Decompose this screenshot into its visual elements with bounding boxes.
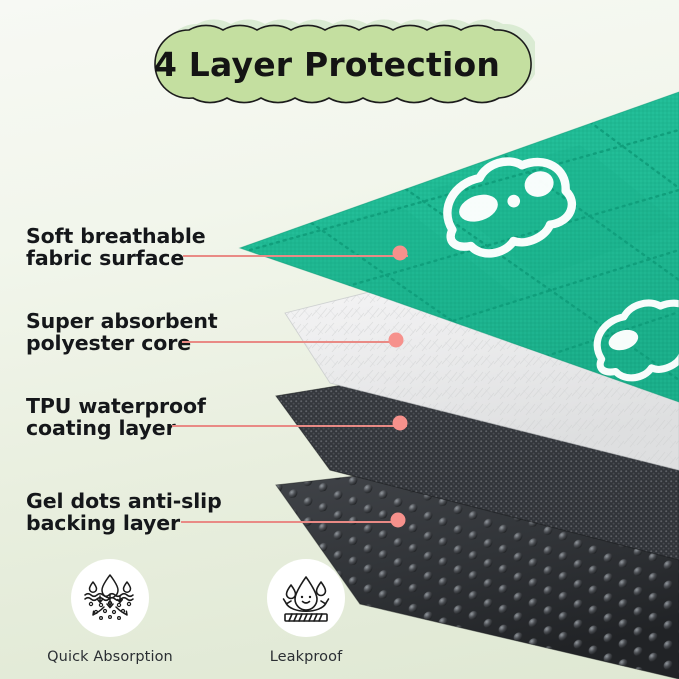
leader-line-fabric bbox=[183, 255, 408, 257]
water-absorption-icon bbox=[82, 572, 138, 624]
callout-polyester-core: Super absorbent polyester core bbox=[26, 311, 218, 354]
leader-line-tpu bbox=[172, 425, 407, 427]
feature-label-leakproof: Leakproof bbox=[236, 649, 376, 665]
feature-label-absorption: Quick Absorption bbox=[40, 649, 180, 665]
feature-icon-circle-leakproof bbox=[267, 559, 345, 637]
callout-tpu-coating: TPU waterproof coating layer bbox=[26, 396, 206, 439]
feature-quick-absorption: Quick Absorption bbox=[40, 559, 180, 665]
callout-label-gel: Gel dots anti-slip backing layer bbox=[26, 491, 222, 534]
feature-leakproof: Leakproof bbox=[236, 559, 376, 665]
leader-line-gel bbox=[181, 521, 401, 523]
callout-label-tpu: TPU waterproof coating layer bbox=[26, 396, 206, 439]
callout-gel-dots: Gel dots anti-slip backing layer bbox=[26, 491, 222, 534]
feature-icon-circle-absorption bbox=[71, 559, 149, 637]
connector-dot-tpu bbox=[393, 416, 408, 431]
connector-dot-core bbox=[389, 333, 404, 348]
leader-line-core bbox=[182, 341, 399, 343]
feature-badges: Quick Absorption bbox=[40, 559, 376, 665]
callout-label-fabric: Soft breathable fabric surface bbox=[26, 226, 206, 269]
connector-dot-fabric bbox=[393, 246, 408, 261]
product-infographic: 4 Layer Protection bbox=[0, 0, 679, 679]
leakproof-droplet-icon bbox=[279, 572, 333, 624]
absorption-particles bbox=[89, 601, 130, 619]
connector-dot-gel bbox=[391, 513, 406, 528]
callout-label-core: Super absorbent polyester core bbox=[26, 311, 218, 354]
callout-fabric-surface: Soft breathable fabric surface bbox=[26, 226, 206, 269]
